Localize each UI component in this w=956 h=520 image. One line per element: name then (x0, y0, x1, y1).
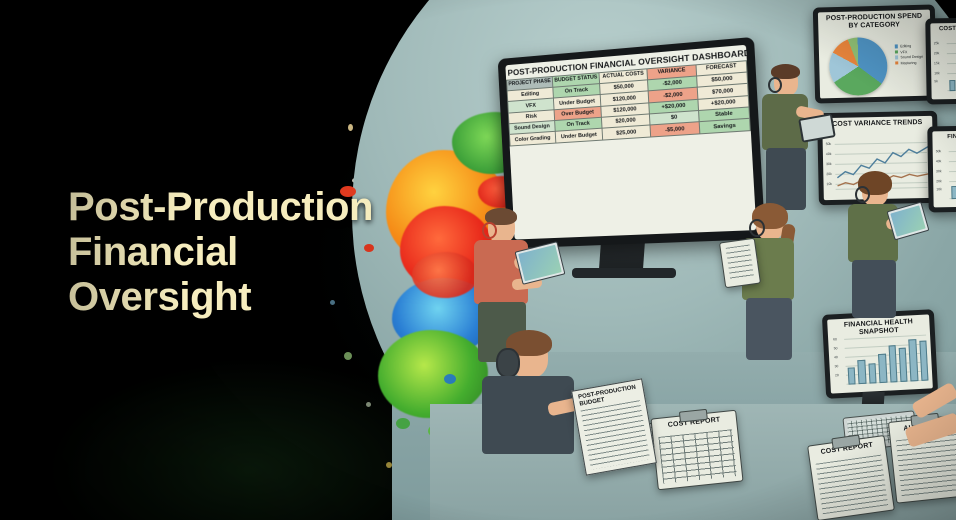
legs (766, 148, 806, 210)
panel-financial-health-snapshot[interactable]: FINANCIAL HEALTH SNAPSHOT 60 50 40 30 20 (822, 309, 938, 399)
axis-tick: 50k (826, 142, 832, 146)
cell-actual: $25,000 (602, 125, 651, 139)
axis-tick: 30 (834, 364, 838, 368)
title-line-2: Financial (68, 230, 398, 275)
panel-title: FINA (932, 131, 956, 142)
panel-screen: COST VA 25k 20k 15k 10k 5k (930, 23, 956, 100)
axis-tick: 25k (934, 41, 940, 45)
axis-tick: 10k (934, 71, 940, 75)
axis-tick: 40 (834, 355, 838, 359)
bar-series (951, 173, 956, 199)
title-line-1: Post-Production (68, 185, 398, 230)
axis-tick: 40k (826, 152, 832, 156)
axis-tick: 30k (936, 169, 942, 173)
clipboard-cost-report-right[interactable]: COST REPORT (807, 435, 895, 520)
cell-status: Under Budget (555, 129, 602, 143)
main-dashboard-monitor[interactable]: POST-PRODUCTION FINANCIAL OVERSIGHT DASH… (498, 37, 766, 249)
headset-icon (855, 186, 870, 203)
legend-label: Mastering (901, 61, 917, 65)
axis-tick: 10k (936, 187, 942, 191)
legs (852, 260, 896, 318)
panel-title: COST VARIANCE TRENDS (822, 116, 932, 130)
axis-tick: 20k (826, 172, 832, 176)
headset-icon (768, 77, 782, 93)
panel-screen: FINA 50k 40k 30k 20k 10k (932, 131, 956, 208)
clipboard-grid (658, 429, 737, 483)
light-speck (348, 124, 353, 131)
axis-tick: 60 (833, 337, 837, 341)
axis-tick: 10k (826, 182, 832, 186)
light-speck (366, 402, 371, 407)
axis-tick: 50 (834, 346, 838, 350)
legend-label: VFX (900, 50, 907, 54)
axis-tick: 5k (934, 79, 938, 83)
legend-label: Editing (900, 44, 911, 48)
page-title: Post-Production Financial Oversight (68, 185, 398, 319)
cell-variance: -$5,000 (650, 122, 700, 137)
bar-chart: 25k 20k 15k 10k 5k (947, 43, 956, 91)
axis-tick: 20k (936, 179, 942, 183)
document-post-production-budget[interactable]: POST-PRODUCTION BUDGET (571, 378, 657, 475)
axis-tick: 50k (936, 149, 942, 153)
paint-splatter-red-mid (412, 252, 478, 298)
bar-series (846, 339, 928, 385)
axis-tick: 30k (826, 162, 832, 166)
illustration-canvas: Post-Production Financial Oversight POST… (0, 0, 956, 520)
light-speck (344, 352, 352, 360)
bar-chart: 50k 40k 30k 20k 10k (949, 151, 956, 199)
headset-icon (482, 222, 497, 239)
panel-title: COST VA (930, 23, 956, 34)
clipboard-cost-report-desk[interactable]: COST REPORT (650, 410, 743, 491)
axis-tick: 20k (934, 51, 940, 55)
bar-series (949, 65, 956, 91)
panel-screen: POST-PRODUCTION SPEND BY CATEGORY Editin… (818, 10, 932, 99)
monitor-stand-base (572, 268, 676, 278)
cell-forecast: Savings (699, 119, 750, 134)
headset-icon (749, 219, 765, 237)
panel-title: POST-PRODUCTION SPEND BY CATEGORY (818, 10, 930, 32)
dashboard-screen: POST-PRODUCTION FINANCIAL OVERSIGHT DASH… (505, 45, 756, 240)
legend-label: Sound Design (900, 55, 923, 60)
pie-chart (829, 37, 888, 96)
panel-financial-spend-right[interactable]: FINA 50k 40k 30k 20k 10k (927, 126, 956, 213)
title-line-3: Oversight (68, 275, 398, 320)
paint-drop (396, 418, 410, 429)
paint-drop (444, 374, 456, 384)
axis-tick: 40k (936, 159, 942, 163)
axis-tick: 15k (934, 61, 940, 65)
legs (746, 298, 792, 360)
cell-phase: Color Grading (510, 132, 556, 146)
headphones-icon (496, 348, 520, 378)
pie-legend: Editing VFX Sound Design Mastering (895, 44, 924, 67)
axis-tick: 20 (835, 373, 839, 377)
handheld-clipboard[interactable] (719, 238, 761, 289)
document-lines (581, 400, 651, 470)
clipboard-lines (896, 434, 956, 497)
bar-chart: 60 50 40 30 20 (844, 335, 928, 385)
torso (482, 376, 574, 454)
clipboard-lines (816, 455, 888, 515)
panel-screen: FINANCIAL HEALTH SNAPSHOT 60 50 40 30 20 (827, 314, 933, 393)
panel-spend-by-category[interactable]: POST-PRODUCTION SPEND BY CATEGORY Editin… (813, 4, 937, 103)
panel-cost-variance-right[interactable]: COST VA 25k 20k 15k 10k 5k (925, 18, 956, 105)
